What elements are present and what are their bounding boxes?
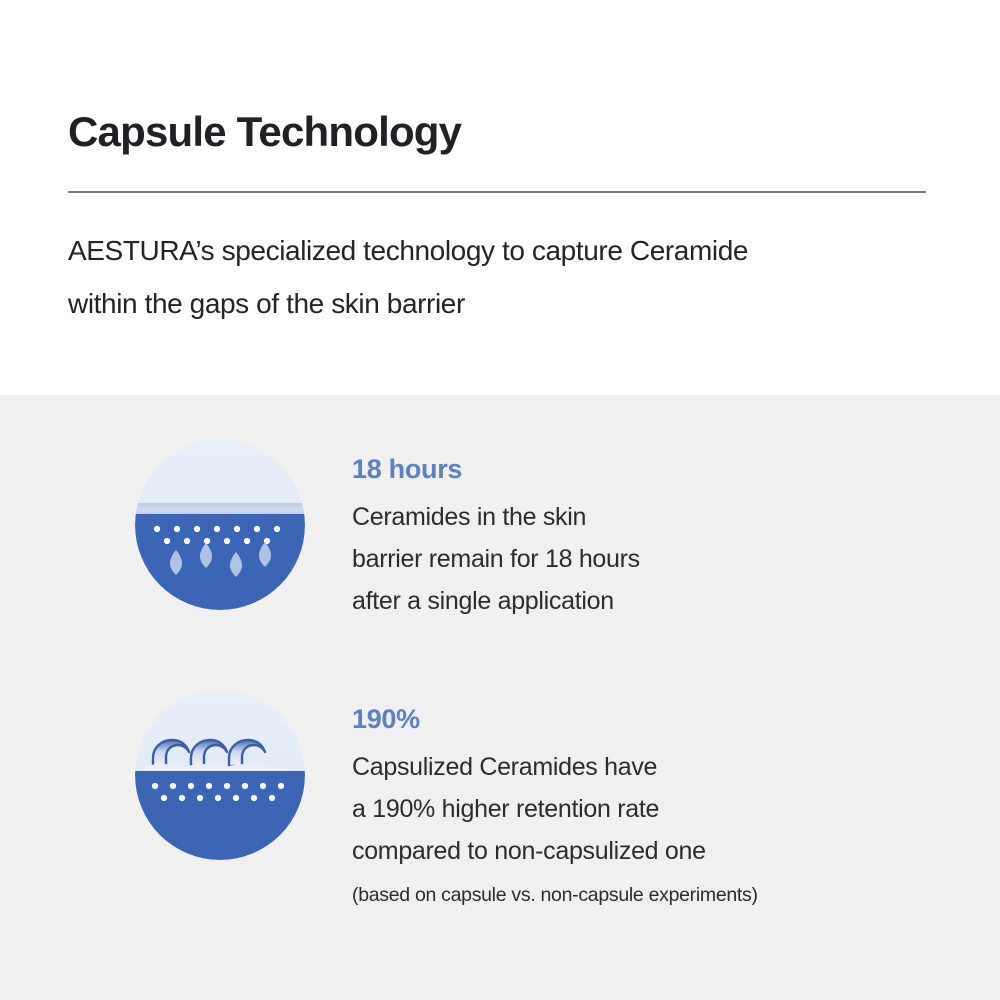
ocean-waves-circle-icon: [135, 690, 305, 860]
features-section: 18 hours Ceramides in the skin barrier r…: [0, 395, 1000, 1000]
subtitle-line-1: AESTURA’s specialized technology to capt…: [68, 224, 948, 277]
description-line: after a single application: [352, 580, 952, 622]
description-line: compared to non-capsulized one: [352, 830, 952, 872]
description-line: a 190% higher retention rate: [352, 788, 952, 830]
infographic-page: Capsule Technology AESTURA’s specialized…: [0, 0, 1000, 1000]
water-droplets-circle-icon: [135, 440, 305, 610]
title-divider: [68, 191, 926, 193]
feature-text-190-percent: 190% Capsulized Ceramides have a 190% hi…: [352, 702, 952, 912]
header-section: Capsule Technology AESTURA’s specialized…: [0, 0, 1000, 395]
description-note: (based on capsule vs. non-capsule experi…: [352, 878, 952, 912]
stat-value-18-hours: 18 hours: [352, 452, 952, 486]
description-line: Capsulized Ceramides have: [352, 746, 952, 788]
feature-text-18-hours: 18 hours Ceramides in the skin barrier r…: [352, 452, 952, 622]
page-title: Capsule Technology: [68, 108, 461, 156]
description-line: barrier remain for 18 hours: [352, 538, 952, 580]
subtitle-line-2: within the gaps of the skin barrier: [68, 277, 948, 330]
description-line: Ceramides in the skin: [352, 496, 952, 538]
page-subtitle: AESTURA’s specialized technology to capt…: [68, 224, 948, 330]
stat-value-190-percent: 190%: [352, 702, 952, 736]
